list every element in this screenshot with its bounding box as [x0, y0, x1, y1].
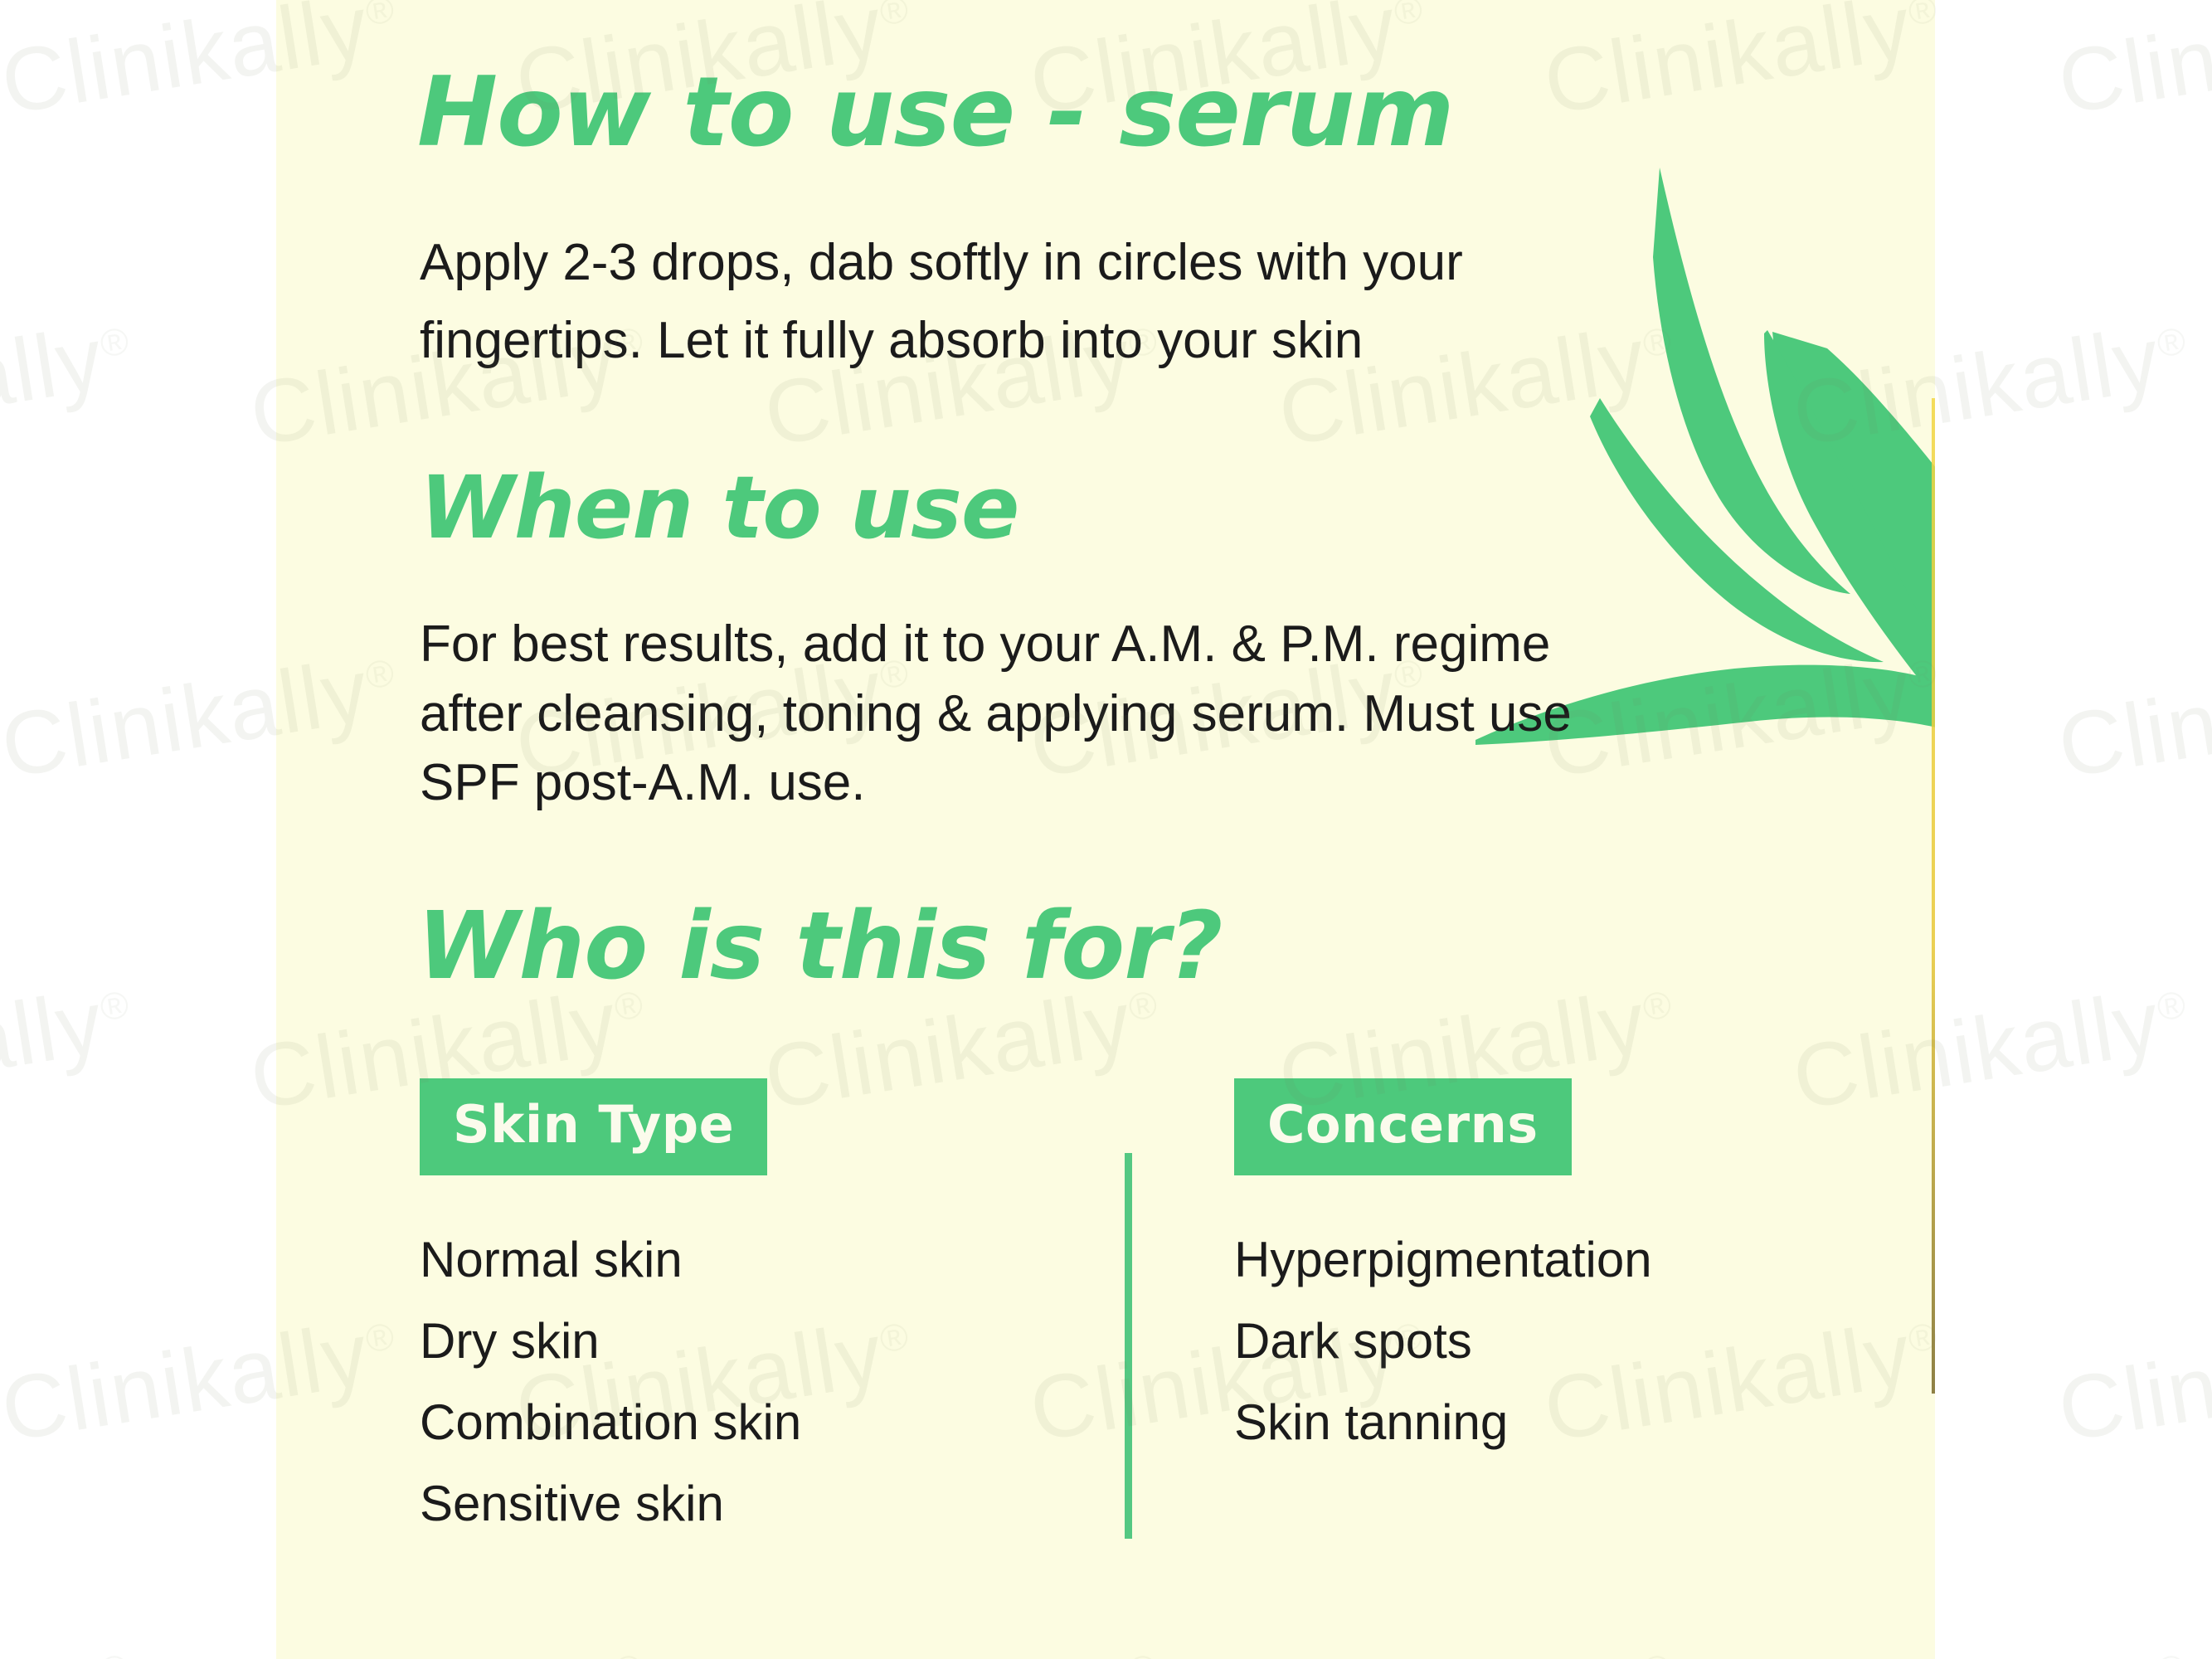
list-item: Sensitive skin [420, 1479, 1000, 1529]
skin-type-column: Skin Type Normal skin Dry skin Combinati… [420, 1078, 1000, 1560]
watermark-text: Clinikally® [0, 965, 140, 1130]
skin-type-pill: Skin Type [420, 1078, 767, 1175]
list-item: Dry skin [420, 1316, 1000, 1366]
how-to-use-heading: How to use - serum [417, 65, 1453, 161]
concerns-list: Hyperpigmentation Dark spots Skin tannin… [1234, 1235, 1864, 1447]
list-item: Combination skin [420, 1398, 1000, 1447]
skin-type-list: Normal skin Dry skin Combination skin Se… [420, 1235, 1000, 1529]
infographic-canvas: How to use - serum Apply 2-3 drops, dab … [0, 0, 2212, 1659]
watermark-text: Clinikally® [2051, 633, 2212, 798]
how-to-use-body: Apply 2-3 drops, dab softly in circles w… [420, 224, 1680, 380]
vertical-divider [1125, 1153, 1132, 1539]
list-item: Skin tanning [1234, 1398, 1864, 1447]
card-right-edge [1932, 398, 1935, 1394]
content-column: How to use - serum Apply 2-3 drops, dab … [405, 0, 1935, 1659]
concerns-pill: Concerns [1234, 1078, 1572, 1175]
watermark-text: Clinikally® [2051, 0, 2212, 134]
concerns-column: Concerns Hyperpigmentation Dark spots Sk… [1234, 1078, 1864, 1479]
audience-columns: Skin Type Normal skin Dry skin Combinati… [405, 1078, 1935, 1609]
watermark-text: Clinikally® [0, 301, 140, 466]
who-is-this-for-heading: Who is this for? [417, 900, 1222, 993]
watermark-text: Clinikally® [0, 1628, 140, 1659]
when-to-use-body: For best results, add it to your A.M. & … [420, 610, 1597, 818]
content-card: How to use - serum Apply 2-3 drops, dab … [276, 0, 1935, 1659]
when-to-use-heading: When to use [420, 465, 1018, 551]
list-item: Hyperpigmentation [1234, 1235, 1864, 1285]
list-item: Dark spots [1234, 1316, 1864, 1366]
list-item: Normal skin [420, 1235, 1000, 1285]
watermark-text: Clinikally® [2051, 1297, 2212, 1462]
